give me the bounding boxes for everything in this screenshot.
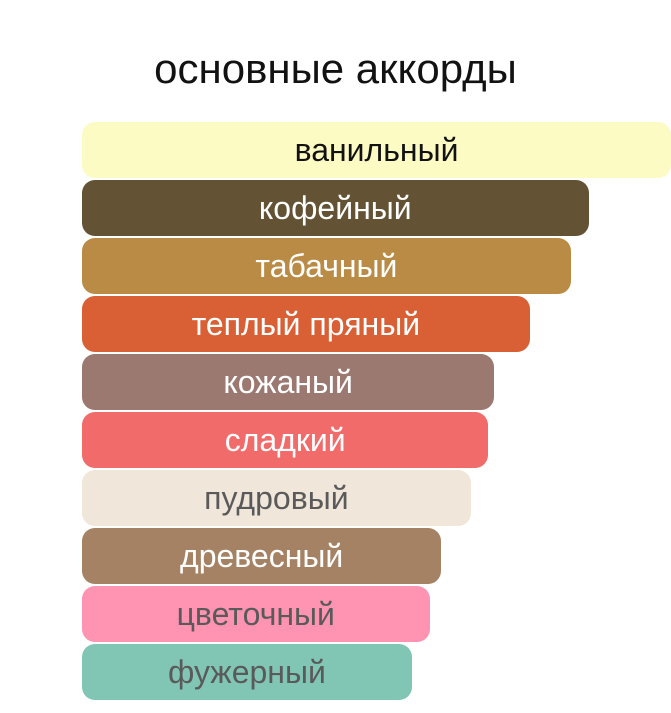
bar-row: кофейный [82, 180, 671, 238]
bar-4 [82, 296, 530, 352]
bar-8 [82, 528, 441, 584]
bar-row: теплый пряный [82, 296, 671, 354]
bar-5 [82, 354, 494, 410]
bar-9 [82, 586, 430, 642]
bar-row: кожаный [82, 354, 671, 412]
bar-10 [82, 644, 412, 700]
bar-row: древесный [82, 528, 671, 586]
bar-row: табачный [82, 238, 671, 296]
bar-2 [82, 180, 589, 236]
accords-bar-chart: основные аккорды ванильныйкофейныйтабачн… [0, 0, 671, 713]
bar-row: ванильный [82, 122, 671, 180]
bar-row: пудровый [82, 470, 671, 528]
bar-1 [82, 122, 671, 178]
bar-7 [82, 470, 471, 526]
bar-list: ванильныйкофейныйтабачныйтеплый пряныйко… [82, 122, 671, 702]
bar-6 [82, 412, 488, 468]
bar-3 [82, 238, 571, 294]
bar-row: фужерный [82, 644, 671, 702]
bar-row: сладкий [82, 412, 671, 470]
chart-title: основные аккорды [0, 44, 671, 94]
bar-row: цветочный [82, 586, 671, 644]
